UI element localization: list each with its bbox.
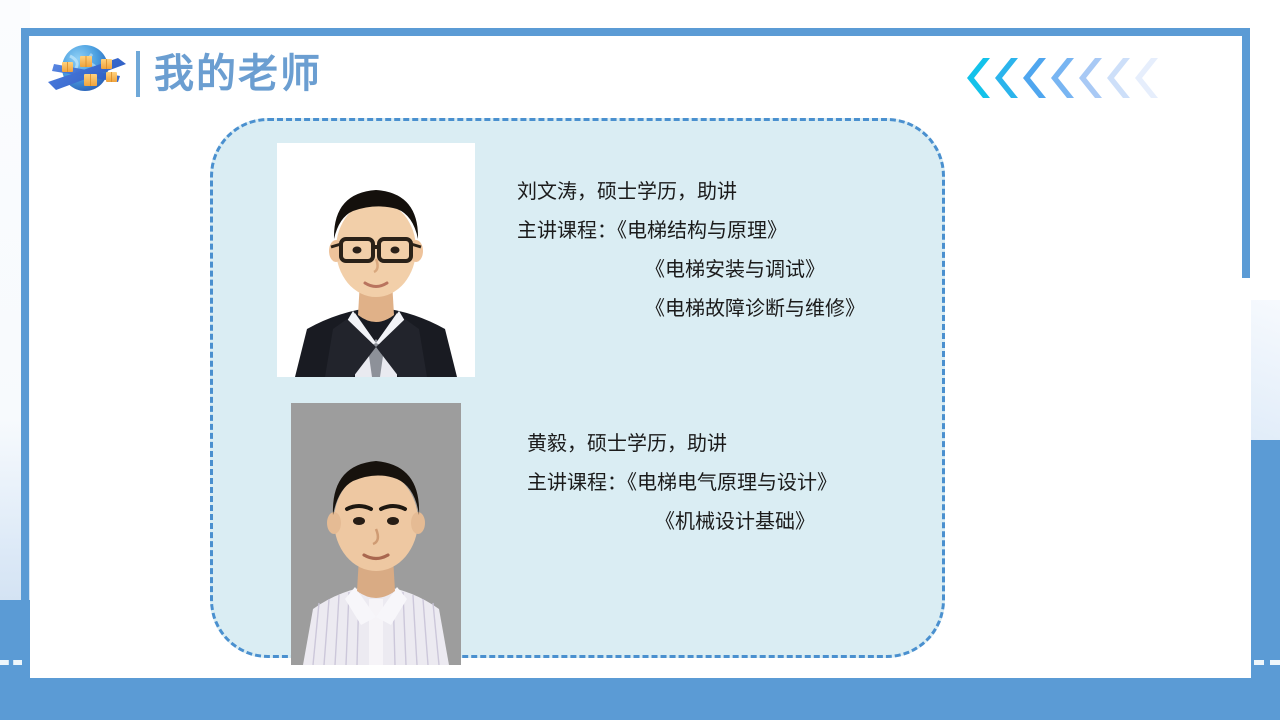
avatar [277,143,475,377]
teachers-card: 刘文涛，硕士学历，助讲 主讲课程：《电梯结构与原理》 《电梯安装与调试》 《电梯… [210,118,945,658]
chevron-left-icon [1078,56,1104,100]
course-title: 《电梯安装与调试》 [517,251,865,290]
teacher-name: 刘文涛，硕士学历，助讲 [517,173,865,212]
slide-frame-right-gap [1242,278,1251,678]
slide-header: 我的老师 [40,38,322,110]
course-title: 《电梯电气原理与设计》 [627,472,837,494]
course-title: 《电梯结构与原理》 [617,220,787,242]
courses-label: 主讲课程： [517,220,617,242]
teacher-info: 刘文涛，硕士学历，助讲 主讲课程：《电梯结构与原理》 《电梯安装与调试》 《电梯… [517,173,865,329]
teacher-entry: 刘文涛，硕士学历，助讲 主讲课程：《电梯结构与原理》 《电梯安装与调试》 《电梯… [277,143,865,377]
background-shape-right-strip [1246,0,1280,300]
chevron-left-icon [994,56,1020,100]
avatar [291,403,461,665]
dashed-accent-right [1254,660,1280,670]
page-title: 我的老师 [154,54,322,94]
teacher-info: 黄毅，硕士学历，助讲 主讲课程：《电梯电气原理与设计》 《机械设计基础》 [527,425,837,542]
courses-label: 主讲课程： [527,472,627,494]
slide-root: 我的老师 [0,0,1280,720]
globe-parcels-icon [40,38,128,110]
teacher-name: 黄毅，硕士学历，助讲 [527,425,837,464]
course-title: 《机械设计基础》 [527,503,837,542]
course-title: 《电梯故障诊断与维修》 [517,290,865,329]
chevron-left-icon [1134,56,1160,100]
dashed-accent-left [0,660,22,670]
title-separator [136,51,140,97]
chevron-left-icon [966,56,992,100]
teacher-entry: 黄毅，硕士学历，助讲 主讲课程：《电梯电气原理与设计》 《机械设计基础》 [291,403,837,665]
chevron-left-icon [1022,56,1048,100]
chevron-decoration [966,56,1160,100]
chevron-left-icon [1106,56,1132,100]
chevron-left-icon [1050,56,1076,100]
